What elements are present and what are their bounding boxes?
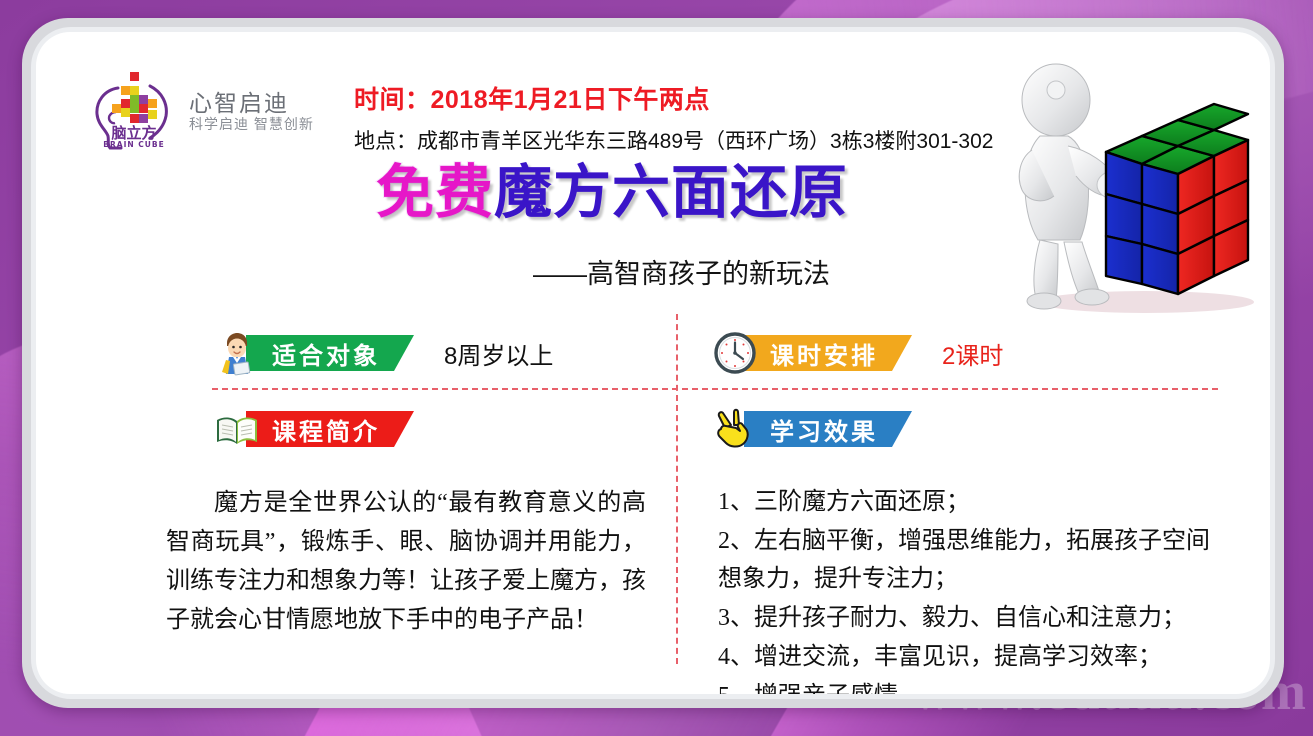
section-hours: 课时安排 2课时: [712, 330, 1003, 376]
list-item: 1、三阶魔方六面还原；: [718, 484, 1230, 522]
section-audience-label: 适合对象: [246, 335, 414, 371]
poster-frame: 脑立方 BRAIN CUBE 心智启迪 科学启迪 智慧创新 时间：2018年1月…: [22, 18, 1284, 708]
title-main-word: 魔方六面还原: [494, 160, 848, 225]
page-subtitle: ——高智商孩子的新玩法: [533, 252, 830, 291]
section-audience-value: 8周岁以上: [444, 336, 553, 371]
horizontal-divider: [212, 388, 1218, 390]
effect-list: 1、三阶魔方六面还原； 2、左右脑平衡，增强思维能力，拓展孩子空间想象力，提升专…: [718, 484, 1230, 694]
list-item: 5、增强亲子感情。: [718, 678, 1230, 694]
brain-cube-logo-icon: 脑立方 BRAIN CUBE: [88, 68, 180, 154]
section-audience: 适合对象 8周岁以上: [214, 330, 553, 376]
boy-student-icon: [214, 330, 260, 376]
event-time: 时间：2018年1月21日下午两点: [354, 80, 1054, 116]
clock-icon: [712, 330, 758, 376]
section-hours-label: 课时安排: [744, 335, 912, 371]
section-hours-value: 2课时: [942, 336, 1003, 371]
intro-paragraph: 魔方是全世界公认的“最有教育意义的高智商玩具”，锻炼手、眼、脑协调并用能力，训练…: [166, 484, 646, 640]
brand-logo: 脑立方 BRAIN CUBE 心智启迪 科学启迪 智慧创新: [88, 68, 314, 154]
section-intro-label: 课程简介: [246, 411, 414, 447]
section-intro: 课程简介: [214, 406, 414, 452]
list-item: 3、提升孩子耐力、毅力、自信心和注意力；: [718, 600, 1230, 638]
brand-name: 心智启迪: [189, 90, 314, 117]
rubiks-cube-mascot-icon: [996, 54, 1264, 316]
poster-card: 脑立方 BRAIN CUBE 心智启迪 科学启迪 智慧创新 时间：2018年1月…: [36, 32, 1270, 694]
event-meta: 时间：2018年1月21日下午两点 地点：成都市青羊区光华东三路489号（西环广…: [354, 80, 1054, 155]
title-free-word: 免费: [376, 160, 494, 225]
event-place: 地点：成都市青羊区光华东三路489号（西环广场）3栋3楼附301-302: [354, 125, 1054, 155]
logo-mark-en: BRAIN CUBE: [103, 140, 164, 149]
list-item: 2、左右脑平衡，增强思维能力，拓展孩子空间想象力，提升专注力；: [718, 523, 1230, 599]
page-title: 免费魔方六面还原: [376, 164, 848, 222]
brand-slogan: 科学启迪 智慧创新: [189, 116, 314, 132]
vertical-divider: [676, 314, 678, 664]
poster-frame-inner: 脑立方 BRAIN CUBE 心智启迪 科学启迪 智慧创新 时间：2018年1月…: [31, 27, 1275, 699]
victory-hand-icon: [712, 406, 758, 452]
list-item: 4、增进交流，丰富见识，提高学习效率；: [718, 639, 1230, 677]
section-effect: 学习效果: [712, 406, 912, 452]
open-book-icon: [214, 406, 260, 452]
section-effect-label: 学习效果: [744, 411, 912, 447]
